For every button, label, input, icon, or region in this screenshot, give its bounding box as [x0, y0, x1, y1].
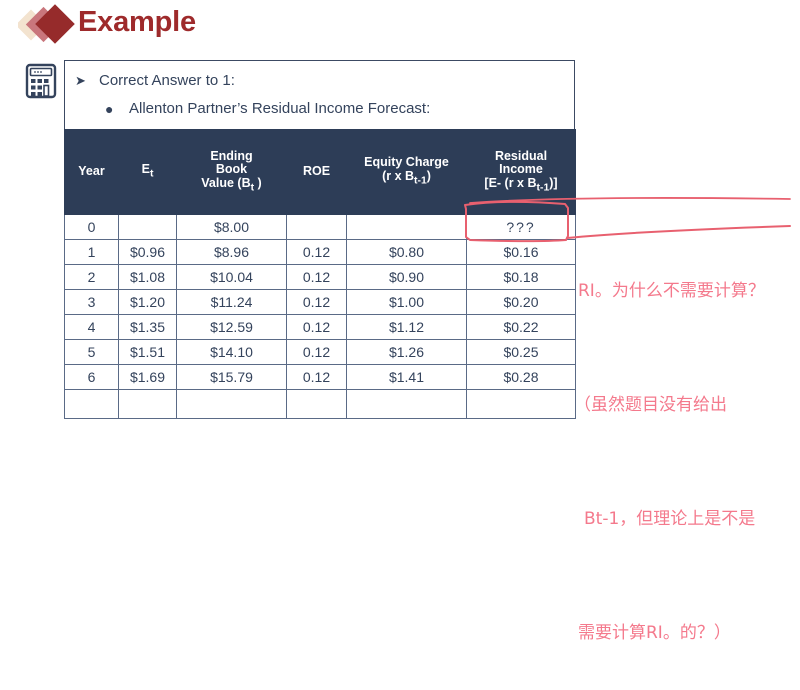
cell-equity-charge: $1.12	[347, 315, 467, 340]
table-row: 5 $1.51 $14.10 0.12 $1.26 $0.25	[65, 340, 576, 365]
column-header-equity-charge: Equity Charge (r x Bt-1)	[347, 130, 467, 215]
column-header-earnings: Et	[119, 130, 177, 215]
handwritten-note: RI。为什么不需要计算？ （虽然题目没有给出 Bt-1，但理论上是不是 需要计算…	[578, 196, 796, 690]
table-header-row: Year Et Ending Book Value (Bt ) ROE Equi…	[65, 130, 576, 215]
cell-earnings: $1.20	[119, 290, 177, 315]
cell-book-value: $10.04	[177, 265, 287, 290]
cell-earnings: $1.08	[119, 265, 177, 290]
cell-roe: 0.12	[287, 265, 347, 290]
cell-year: 3	[65, 290, 119, 315]
cell-roe: 0.12	[287, 365, 347, 390]
cell-book-value: $8.96	[177, 240, 287, 265]
cell-equity-charge: $1.00	[347, 290, 467, 315]
cell-residual-income: $0.28	[467, 365, 576, 390]
cell-equity-charge: $1.41	[347, 365, 467, 390]
cell-equity-charge: $0.90	[347, 265, 467, 290]
table-row: 2 $1.08 $10.04 0.12 $0.90 $0.18	[65, 265, 576, 290]
handwritten-note-line-1: RI。为什么不需要计算？	[578, 272, 796, 310]
cell-year: 6	[65, 365, 119, 390]
handwritten-note-line-3: Bt-1，但理论上是不是	[584, 500, 796, 538]
bullet-level-2: ● Allenton Partner’s Residual Income For…	[105, 100, 565, 118]
dot-bullet-icon: ●	[105, 100, 129, 118]
cell-roe: 0.12	[287, 340, 347, 365]
cell-year: 1	[65, 240, 119, 265]
table-row-empty	[65, 390, 576, 419]
table-row: 4 $1.35 $12.59 0.12 $1.12 $0.22	[65, 315, 576, 340]
cell-equity-charge: $1.26	[347, 340, 467, 365]
cell-year: 5	[65, 340, 119, 365]
table-row: 3 $1.20 $11.24 0.12 $1.00 $0.20	[65, 290, 576, 315]
handwritten-note-line-2: （虽然题目没有给出	[574, 386, 796, 424]
cell-earnings	[119, 390, 177, 419]
cell-roe	[287, 390, 347, 419]
cell-book-value: $14.10	[177, 340, 287, 365]
column-header-roe: ROE	[287, 130, 347, 215]
column-header-residual-income: Residual Income [E- (r x Bt-1)]	[467, 130, 576, 215]
cell-year	[65, 390, 119, 419]
cell-year: 0	[65, 215, 119, 240]
cell-book-value: $8.00	[177, 215, 287, 240]
content-box: ➤ Correct Answer to 1: ● Allenton Partne…	[64, 60, 575, 408]
bullet-level-1: ➤ Correct Answer to 1:	[75, 72, 555, 90]
cell-roe: 0.12	[287, 315, 347, 340]
cell-book-value: $12.59	[177, 315, 287, 340]
cell-residual-income	[467, 390, 576, 419]
slide-header: Example	[0, 0, 800, 52]
cell-residual-income-unknown: ???	[467, 215, 576, 240]
cell-equity-charge: $0.80	[347, 240, 467, 265]
cell-earnings: $1.35	[119, 315, 177, 340]
column-header-ending-book-value: Ending Book Value (Bt )	[177, 130, 287, 215]
cell-roe	[287, 215, 347, 240]
handwritten-note-line-4: 需要计算RI。的？）	[578, 614, 796, 652]
cell-residual-income: $0.22	[467, 315, 576, 340]
page-title: Example	[78, 6, 196, 39]
cell-book-value: $11.24	[177, 290, 287, 315]
bullet-level-1-label: Correct Answer to 1:	[99, 72, 235, 89]
cell-book-value: $15.79	[177, 365, 287, 390]
table-row: 0 $8.00 ???	[65, 215, 576, 240]
column-header-year: Year	[65, 130, 119, 215]
cell-equity-charge	[347, 215, 467, 240]
calculator-icon	[22, 62, 60, 100]
cell-year: 2	[65, 265, 119, 290]
cell-earnings	[119, 215, 177, 240]
cell-residual-income: $0.20	[467, 290, 576, 315]
cell-residual-income: $0.25	[467, 340, 576, 365]
cell-earnings: $0.96	[119, 240, 177, 265]
cell-roe: 0.12	[287, 240, 347, 265]
table-body: 0 $8.00 ??? 1 $0.96 $8.96 0.12 $0.80 $0.…	[65, 215, 576, 419]
cell-residual-income: $0.18	[467, 265, 576, 290]
cell-book-value	[177, 390, 287, 419]
diamond-logo-icon	[18, 4, 80, 48]
cell-earnings: $1.51	[119, 340, 177, 365]
cell-residual-income: $0.16	[467, 240, 576, 265]
table-row: 1 $0.96 $8.96 0.12 $0.80 $0.16	[65, 240, 576, 265]
cell-earnings: $1.69	[119, 365, 177, 390]
bullet-level-2-label: Allenton Partner’s Residual Income Forec…	[129, 100, 430, 117]
residual-income-table: Year Et Ending Book Value (Bt ) ROE Equi…	[64, 129, 576, 419]
table-row: 6 $1.69 $15.79 0.12 $1.41 $0.28	[65, 365, 576, 390]
cell-year: 4	[65, 315, 119, 340]
cell-roe: 0.12	[287, 290, 347, 315]
cell-equity-charge	[347, 390, 467, 419]
arrow-bullet-icon: ➤	[75, 72, 99, 90]
